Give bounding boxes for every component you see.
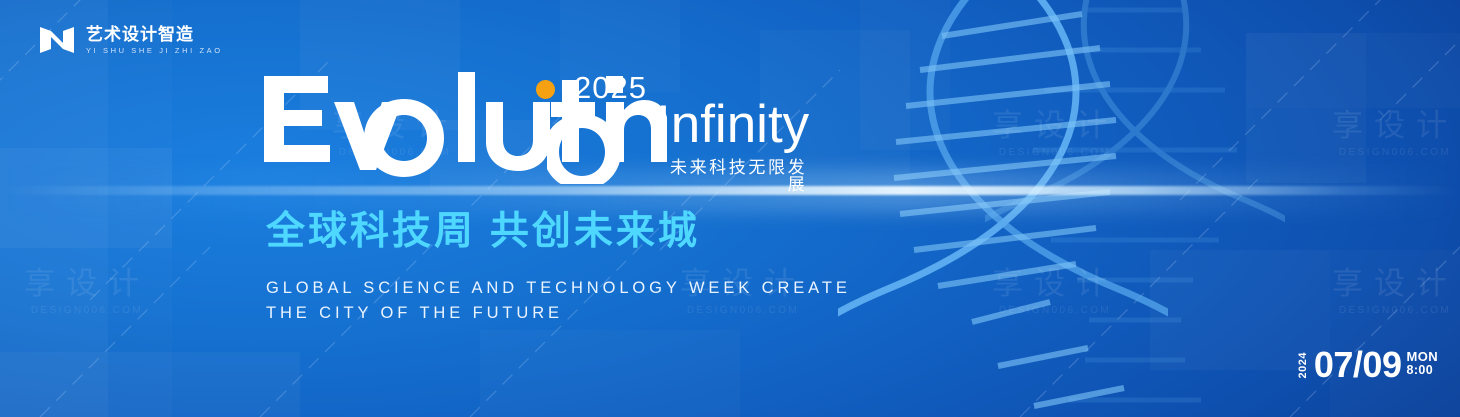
date-weekday: MON — [1406, 350, 1438, 364]
poster-banner: 享设计 DESIGN006.COM 享设计 DESIGN006.COM 享设计 … — [0, 0, 1460, 417]
headline-en: GLOBAL SCIENCE AND TECHNOLOGY WEEK CREAT… — [266, 276, 851, 326]
brand-logo-text: 艺术设计智造 YI SHU SHE JI ZHI ZAO — [86, 26, 223, 54]
date-day: 07/09 — [1314, 348, 1402, 381]
brand-logo[interactable]: 艺术设计智造 YI SHU SHE JI ZHI ZAO — [38, 21, 223, 59]
orange-accent-dot — [536, 80, 555, 99]
infinity-block: Infinity 未来科技无限发展 — [656, 98, 809, 193]
watermark: 享设计 DESIGN006.COM — [960, 110, 1150, 158]
year-label: 2025 — [574, 72, 647, 103]
date-time: 8:00 — [1406, 364, 1438, 378]
headline-cn: 全球科技周 共创未来城 — [266, 212, 700, 251]
stylized-n-mark-icon — [38, 21, 76, 59]
watermark: 享设计 DESIGN006.COM — [0, 268, 182, 316]
watermark: 享设计 DESIGN006.COM — [1300, 268, 1460, 316]
title-block: 2025 Infinity 未来科技无限发展 — [262, 66, 662, 184]
brand-name-cn: 艺术设计智造 — [86, 26, 223, 44]
date-year: 2024 — [1298, 352, 1309, 378]
watermark: 享设计 DESIGN006.COM — [1300, 110, 1460, 158]
infinity-tagline-cn: 未来科技无限发展 — [656, 159, 809, 193]
date-meta: MON 8:00 — [1406, 350, 1438, 378]
brand-name-pinyin: YI SHU SHE JI ZHI ZAO — [86, 47, 223, 55]
watermark: 享设计 DESIGN006.COM — [960, 268, 1150, 316]
infinity-label: Infinity — [656, 98, 809, 151]
event-date: 2024 07/09 MON 8:00 — [1298, 348, 1438, 381]
